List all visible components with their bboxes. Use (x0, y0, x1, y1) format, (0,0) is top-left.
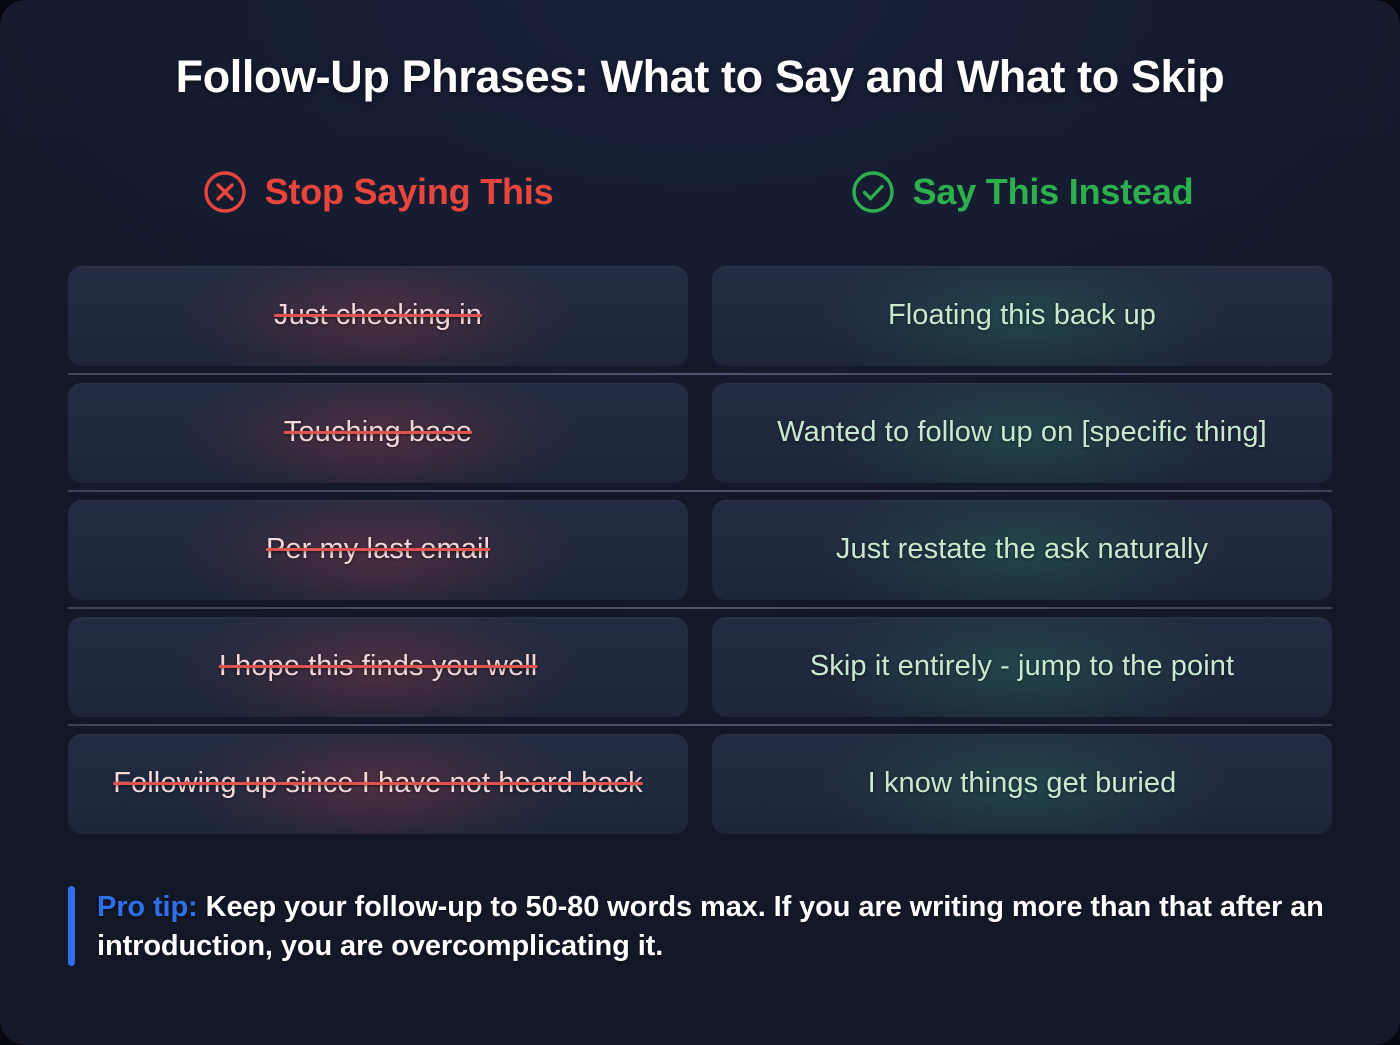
comparison-rows: Just checking in Floating this back up T… (68, 266, 1332, 834)
circle-check-icon (851, 170, 895, 214)
good-phrase-cell: I know things get buried (712, 734, 1332, 834)
good-phrase-text: I know things get buried (868, 765, 1177, 802)
bad-phrase-text: Following up since I have not heard back (113, 765, 643, 802)
table-row: Per my last email Just restate the ask n… (68, 500, 1332, 600)
bad-phrase-text: Just checking in (274, 297, 482, 334)
pro-tip-callout: Pro tip: Keep your follow-up to 50-80 wo… (68, 886, 1332, 966)
table-row: Touching base Wanted to follow up on [sp… (68, 383, 1332, 483)
good-phrase-cell: Floating this back up (712, 266, 1332, 366)
column-header-stop-label: Stop Saying This (265, 171, 554, 213)
good-phrase-cell: Wanted to follow up on [specific thing] (712, 383, 1332, 483)
pro-tip-body: Pro tip: Keep your follow-up to 50-80 wo… (97, 886, 1332, 966)
pro-tip-text: Keep your follow-up to 50-80 words max. … (97, 891, 1324, 962)
pro-tip-label: Pro tip: (97, 891, 198, 923)
bad-phrase-text: Per my last email (266, 531, 490, 568)
bad-phrase-text: I hope this finds you well (219, 648, 538, 685)
good-phrase-text: Floating this back up (888, 297, 1156, 334)
bad-phrase-cell: Per my last email (68, 500, 688, 600)
bad-phrase-cell: Touching base (68, 383, 688, 483)
bad-phrase-cell: Following up since I have not heard back (68, 734, 688, 834)
row-divider (68, 373, 1332, 375)
good-phrase-text: Wanted to follow up on [specific thing] (777, 414, 1267, 451)
row-divider (68, 490, 1332, 492)
row-divider (68, 724, 1332, 726)
column-header-say-label: Say This Instead (913, 171, 1194, 213)
table-row: I hope this finds you well Skip it entir… (68, 617, 1332, 717)
page-title: Follow-Up Phrases: What to Say and What … (0, 52, 1400, 102)
pro-tip-accent-bar (68, 886, 75, 966)
column-header-say: Say This Instead (712, 170, 1332, 214)
good-phrase-text: Just restate the ask naturally (836, 531, 1208, 568)
column-header-stop: Stop Saying This (68, 170, 688, 214)
bad-phrase-cell: Just checking in (68, 266, 688, 366)
good-phrase-text: Skip it entirely - jump to the point (810, 648, 1234, 685)
good-phrase-cell: Skip it entirely - jump to the point (712, 617, 1332, 717)
good-phrase-cell: Just restate the ask naturally (712, 500, 1332, 600)
table-row: Just checking in Floating this back up (68, 266, 1332, 366)
table-row: Following up since I have not heard back… (68, 734, 1332, 834)
infographic-panel: Follow-Up Phrases: What to Say and What … (0, 0, 1400, 1045)
row-divider (68, 607, 1332, 609)
bad-phrase-text: Touching base (284, 414, 472, 451)
column-headers: Stop Saying This Say This Instead (68, 170, 1332, 214)
bad-phrase-cell: I hope this finds you well (68, 617, 688, 717)
circle-x-icon (203, 170, 247, 214)
